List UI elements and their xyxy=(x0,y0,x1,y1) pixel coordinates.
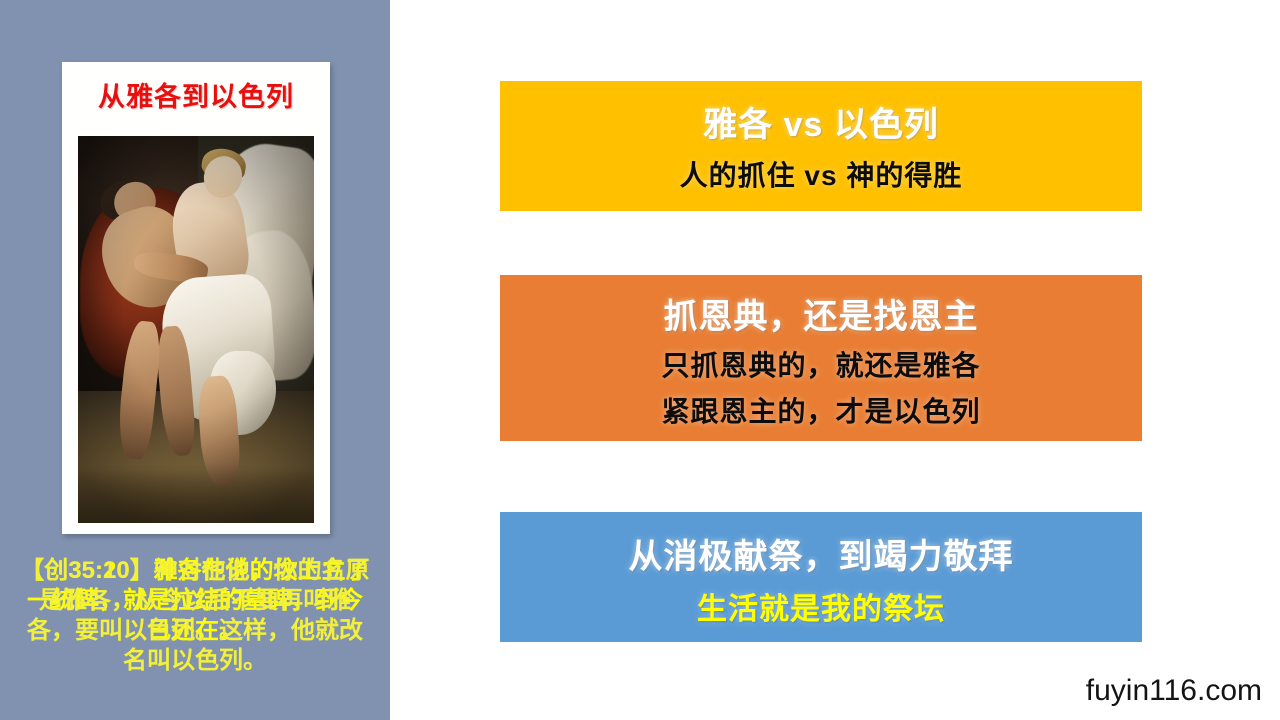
card-title: 从雅各到以色列 xyxy=(62,75,330,114)
content-box-sacrifice-to-worship: 从消极献祭，到竭力敬拜 生活就是我的祭坛 xyxy=(500,512,1142,642)
content-box-grace-vs-lord: 抓恩典，还是找恩主 只抓恩典的，就还是雅各 紧跟恩主的，才是以色列 xyxy=(500,275,1142,441)
painting-vignette xyxy=(78,136,314,523)
box-yellow-subline-1: 人的抓住 vs 神的得胜 xyxy=(500,146,1142,194)
box-blue-headline: 从消极献祭，到竭力敬拜 xyxy=(500,512,1142,578)
box-orange-subline-2: 紧跟恩主的，才是以色列 xyxy=(500,384,1142,430)
content-box-jacob-vs-israel: 雅各 vs 以色列 人的抓住 vs 神的得胜 xyxy=(500,81,1142,211)
site-watermark: fuyin116.com xyxy=(1086,674,1262,708)
photo-card: 从雅各到以色列 xyxy=(62,62,330,534)
left-panel: 从雅各到以色列 【创35:20】雅各在他的坟上立了一统碑，就是拉结的墓碑，到 xyxy=(0,0,390,720)
verse-text-layer-overlap: 【创35:10】神对他说，你的名原是雅各，从今以后不要再叫雅各，要叫以色列。这样… xyxy=(0,556,390,676)
box-blue-subline-1: 生活就是我的祭坛 xyxy=(500,578,1142,628)
box-yellow-headline: 雅各 vs 以色列 xyxy=(500,81,1142,146)
box-orange-subline-1: 只抓恩典的，就还是雅各 xyxy=(500,338,1142,384)
jacob-wrestling-angel-image xyxy=(78,136,314,523)
verse-text-block: 【创35:20】雅各在他的坟上立了一统碑，就是拉结的墓碑，到今日还在。 【创35… xyxy=(0,556,390,720)
box-orange-headline: 抓恩典，还是找恩主 xyxy=(500,275,1142,338)
